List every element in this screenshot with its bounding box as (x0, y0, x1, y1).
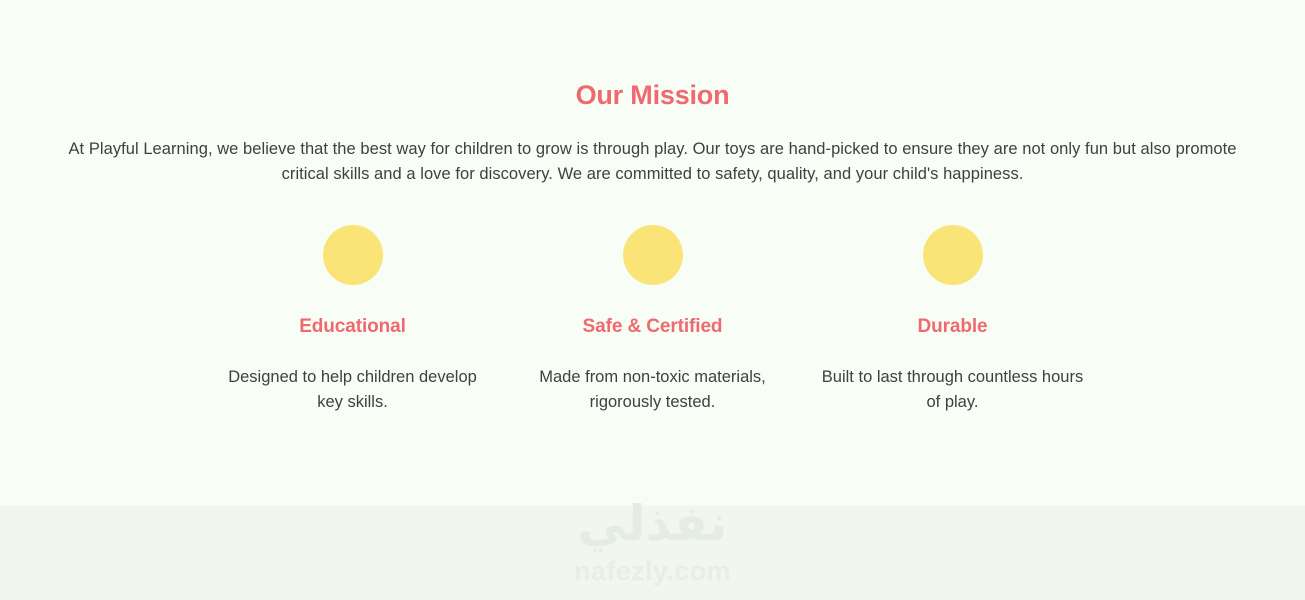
feature-title: Durable (917, 316, 987, 339)
feature-card-safe-certified: Safe & Certified Made from non-toxic mat… (503, 225, 803, 415)
mission-section: Our Mission At Playful Learning, we beli… (0, 0, 1305, 506)
page-root: Our Mission At Playful Learning, we beli… (0, 0, 1305, 600)
mission-intro-text: At Playful Learning, we believe that the… (53, 137, 1253, 187)
feature-description: Made from non-toxic materials, rigorousl… (518, 365, 788, 415)
feature-title: Safe & Certified (583, 316, 723, 339)
feature-card-educational: Educational Designed to help children de… (203, 225, 503, 415)
feature-title: Educational (299, 316, 406, 339)
feature-list: Educational Designed to help children de… (203, 225, 1103, 415)
mission-content: Our Mission At Playful Learning, we beli… (53, 80, 1253, 415)
page-title: Our Mission (53, 80, 1253, 111)
watermark: نفذلي nafezly.com (0, 500, 1305, 585)
circle-icon (323, 225, 383, 285)
circle-icon (623, 225, 683, 285)
circle-icon (923, 225, 983, 285)
footer-band: نفذلي nafezly.com (0, 506, 1305, 600)
feature-description: Designed to help children develop key sk… (218, 365, 488, 415)
feature-card-durable: Durable Built to last through countless … (803, 225, 1103, 415)
watermark-latin-text: nafezly.com (574, 558, 731, 585)
watermark-arabic-text: نفذلي (578, 500, 728, 549)
feature-description: Built to last through countless hours of… (818, 365, 1088, 415)
